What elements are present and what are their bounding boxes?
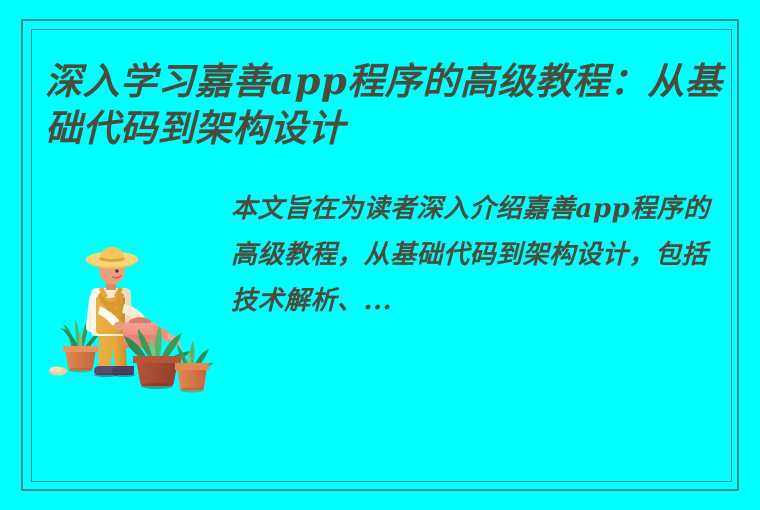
article-summary: 本文旨在为读者深入介绍嘉善app程序的高级教程，从基础代码到架构设计，包括技术解… — [231, 186, 731, 324]
article-card: 深入学习嘉善app程序的高级教程：从基础代码到架构设计 本文旨在为读者深入介绍嘉… — [0, 0, 760, 510]
page-title: 深入学习嘉善app程序的高级教程：从基础代码到架构设计 — [45, 58, 735, 152]
gardener-watering-plants-icon — [44, 240, 214, 402]
